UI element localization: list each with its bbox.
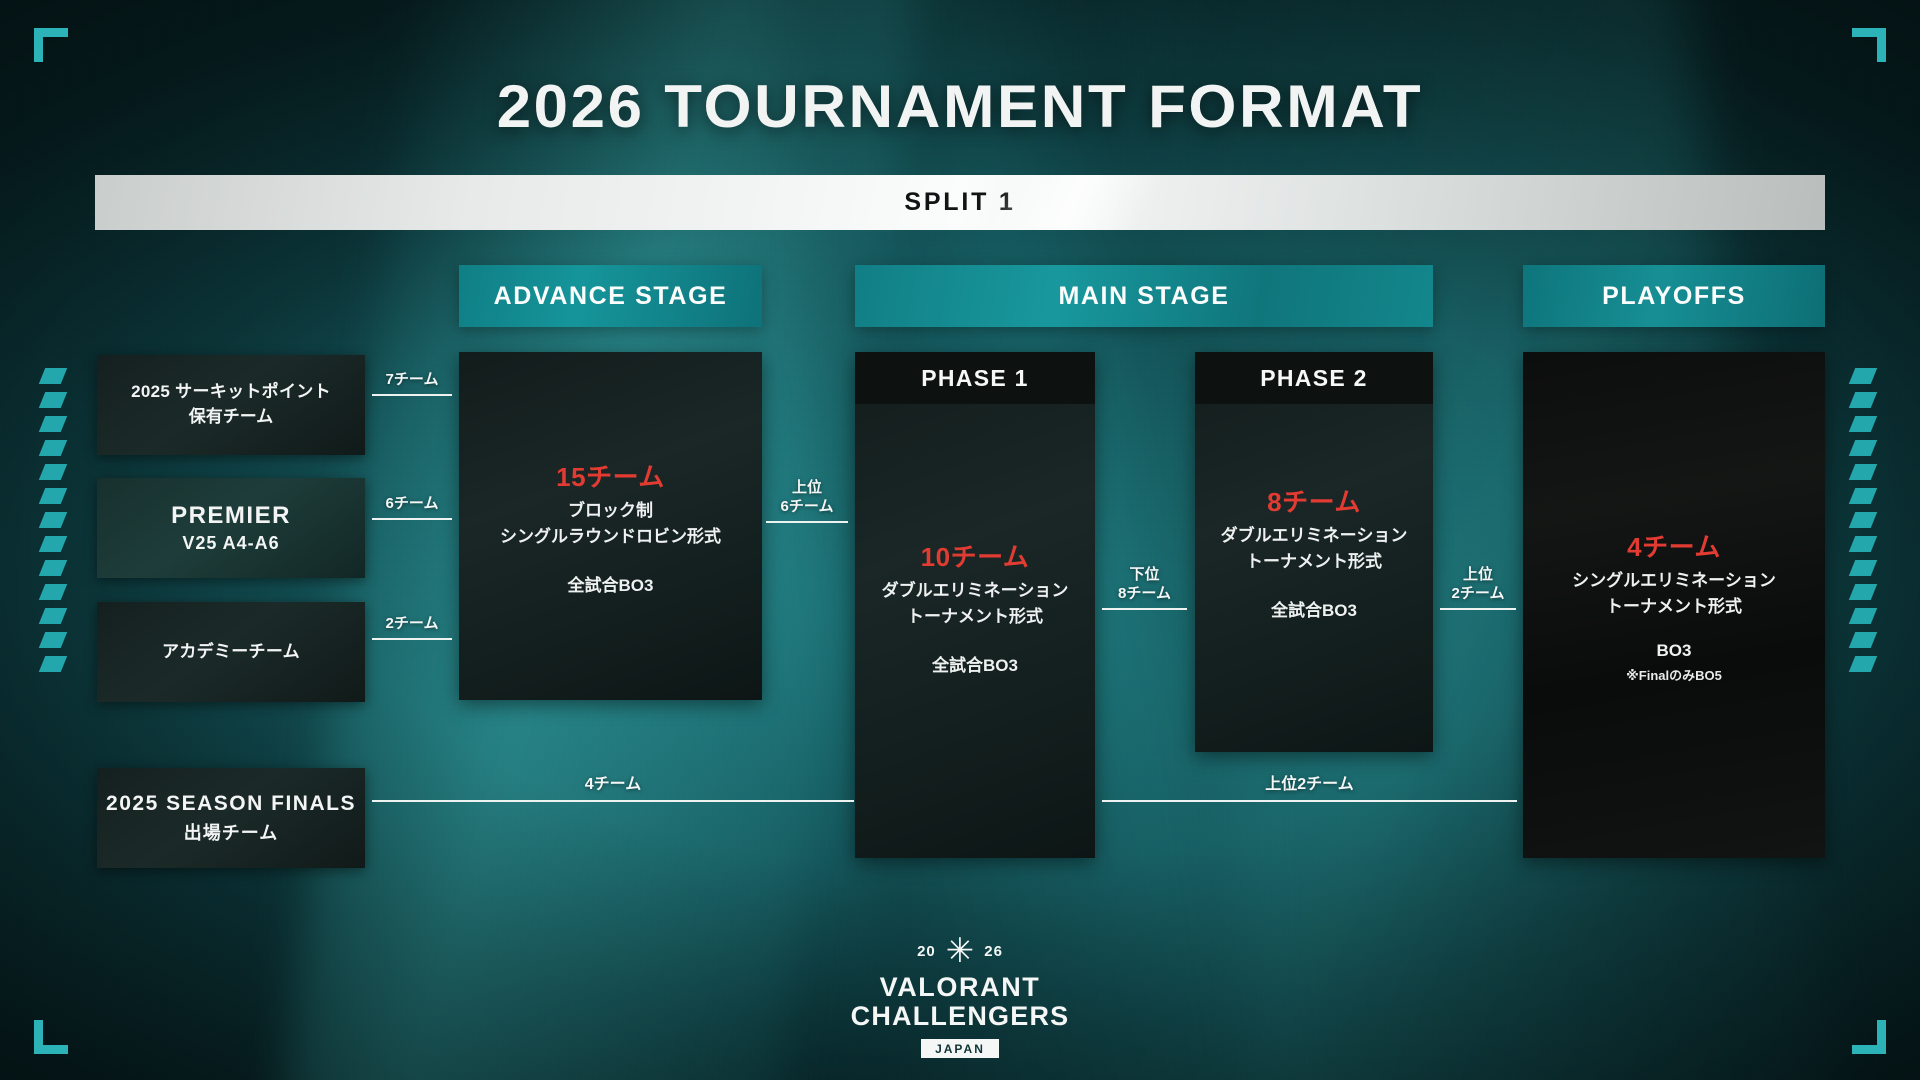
connector-label: 7チーム xyxy=(372,370,452,394)
logo-word-valorant: VALORANT xyxy=(810,972,1110,1003)
source-subtitle: 出場チーム xyxy=(184,819,278,845)
panel-format: ダブルエリミネーション トーナメント形式 xyxy=(1195,523,1433,574)
stage-header-main: MAIN STAGE xyxy=(855,265,1433,327)
panel-body: 10チーム ダブルエリミネーション トーナメント形式 全試合BO3 xyxy=(855,537,1095,676)
panel-series-format: 全試合BO3 xyxy=(1195,596,1433,621)
panel-team-count: 15チーム xyxy=(459,457,762,494)
panel-format: ブロック制 シングルラウンドロビン形式 xyxy=(459,498,762,549)
connector-line xyxy=(372,800,854,802)
connector-line xyxy=(766,521,848,523)
source-title: PREMIER xyxy=(171,502,291,530)
connector-phase2-to-playoffs: 上位 2チーム xyxy=(1440,565,1516,610)
connector-line xyxy=(1440,608,1516,610)
connector-phase1-to-playoffs: 上位2チーム xyxy=(1102,775,1517,802)
panel-format: シングルエリミネーション トーナメント形式 xyxy=(1523,568,1825,619)
stage-header-playoffs: PLAYOFFS xyxy=(1523,265,1825,327)
source-subtitle: V25 A4-A6 xyxy=(182,533,279,554)
source-title: 2025 SEASON FINALS xyxy=(106,792,356,816)
panel-body: 15チーム ブロック制 シングルラウンドロビン形式 全試合BO3 xyxy=(459,457,762,596)
page-title: 2026 TOURNAMENT FORMAT xyxy=(0,72,1920,141)
connector-academy-to-advance: 2チーム xyxy=(372,614,452,640)
connector-finals-to-phase1: 4チーム xyxy=(372,775,854,802)
side-dash-decoration-right xyxy=(1852,368,1878,686)
connector-label: 下位 8チーム xyxy=(1102,565,1187,608)
panel-body: 8チーム ダブルエリミネーション トーナメント形式 全試合BO3 xyxy=(1195,482,1433,621)
connector-label: 上位 2チーム xyxy=(1440,565,1516,608)
logo-region-badge: JAPAN xyxy=(921,1039,999,1058)
connector-line xyxy=(372,638,452,640)
source-box-circuit-points: 2025 サーキットポイント 保有チーム xyxy=(97,355,365,455)
logo-year-row: 20 ✳ 26 xyxy=(810,932,1110,970)
panel-series-format: BO3 xyxy=(1523,641,1825,661)
phase-header: PHASE 2 xyxy=(1195,352,1433,404)
panel-team-count: 10チーム xyxy=(855,537,1095,574)
corner-bracket-bottom-left-icon xyxy=(34,1020,68,1054)
logo-word-challengers: CHALLENGERS xyxy=(810,1001,1110,1032)
source-box-season-finals: 2025 SEASON FINALS 出場チーム xyxy=(97,768,365,868)
stage-header-advance: ADVANCE STAGE xyxy=(459,265,762,327)
panel-format: ダブルエリミネーション トーナメント形式 xyxy=(855,578,1095,629)
connector-line xyxy=(1102,608,1187,610)
connector-label: 上位2チーム xyxy=(1102,775,1517,800)
connector-premier-to-advance: 6チーム xyxy=(372,494,452,520)
connector-circuit-to-advance: 7チーム xyxy=(372,370,452,396)
connector-advance-to-main: 上位 6チーム xyxy=(766,478,848,523)
source-line-1: アカデミーチーム xyxy=(162,640,300,665)
panel-series-format: 全試合BO3 xyxy=(459,571,762,596)
panel-phase-1: PHASE 1 10チーム ダブルエリミネーション トーナメント形式 全試合BO… xyxy=(855,352,1095,858)
connector-label: 2チーム xyxy=(372,614,452,638)
corner-bracket-bottom-right-icon xyxy=(1852,1020,1886,1054)
panel-phase-2: PHASE 2 8チーム ダブルエリミネーション トーナメント形式 全試合BO3 xyxy=(1195,352,1433,752)
connector-line xyxy=(1102,800,1517,802)
panel-team-count: 4チーム xyxy=(1523,527,1825,564)
connector-label: 上位 6チーム xyxy=(766,478,848,521)
panel-series-format: 全試合BO3 xyxy=(855,651,1095,676)
panel-playoffs: 4チーム シングルエリミネーション トーナメント形式 BO3 ※FinalのみB… xyxy=(1523,352,1825,858)
source-box-premier: PREMIER V25 A4-A6 xyxy=(97,478,365,578)
connector-label: 4チーム xyxy=(372,775,854,800)
split-banner-label: SPLIT 1 xyxy=(904,188,1015,217)
panel-final-note: ※FinalのみBO5 xyxy=(1523,665,1825,684)
panel-team-count: 8チーム xyxy=(1195,482,1433,519)
source-box-academy: アカデミーチーム xyxy=(97,602,365,702)
logo-year-left: 20 xyxy=(917,943,936,960)
valorant-star-icon: ✳ xyxy=(946,934,975,968)
logo-year-right: 26 xyxy=(984,943,1003,960)
source-line-2: 保有チーム xyxy=(189,405,274,430)
side-dash-decoration-left xyxy=(42,368,68,686)
panel-advance-stage: 15チーム ブロック制 シングルラウンドロビン形式 全試合BO3 xyxy=(459,352,762,700)
corner-bracket-top-left-icon xyxy=(34,28,68,62)
split-banner: SPLIT 1 xyxy=(95,175,1825,230)
connector-line xyxy=(372,394,452,396)
valorant-challengers-logo: 20 ✳ 26 VALORANT CHALLENGERS JAPAN xyxy=(810,932,1110,1058)
source-line-1: 2025 サーキットポイント xyxy=(131,380,331,405)
connector-line xyxy=(372,518,452,520)
connector-label: 6チーム xyxy=(372,494,452,518)
phase-header: PHASE 1 xyxy=(855,352,1095,404)
connector-phase1-to-phase2: 下位 8チーム xyxy=(1102,565,1187,610)
corner-bracket-top-right-icon xyxy=(1852,28,1886,62)
panel-body: 4チーム シングルエリミネーション トーナメント形式 BO3 ※FinalのみB… xyxy=(1523,527,1825,684)
